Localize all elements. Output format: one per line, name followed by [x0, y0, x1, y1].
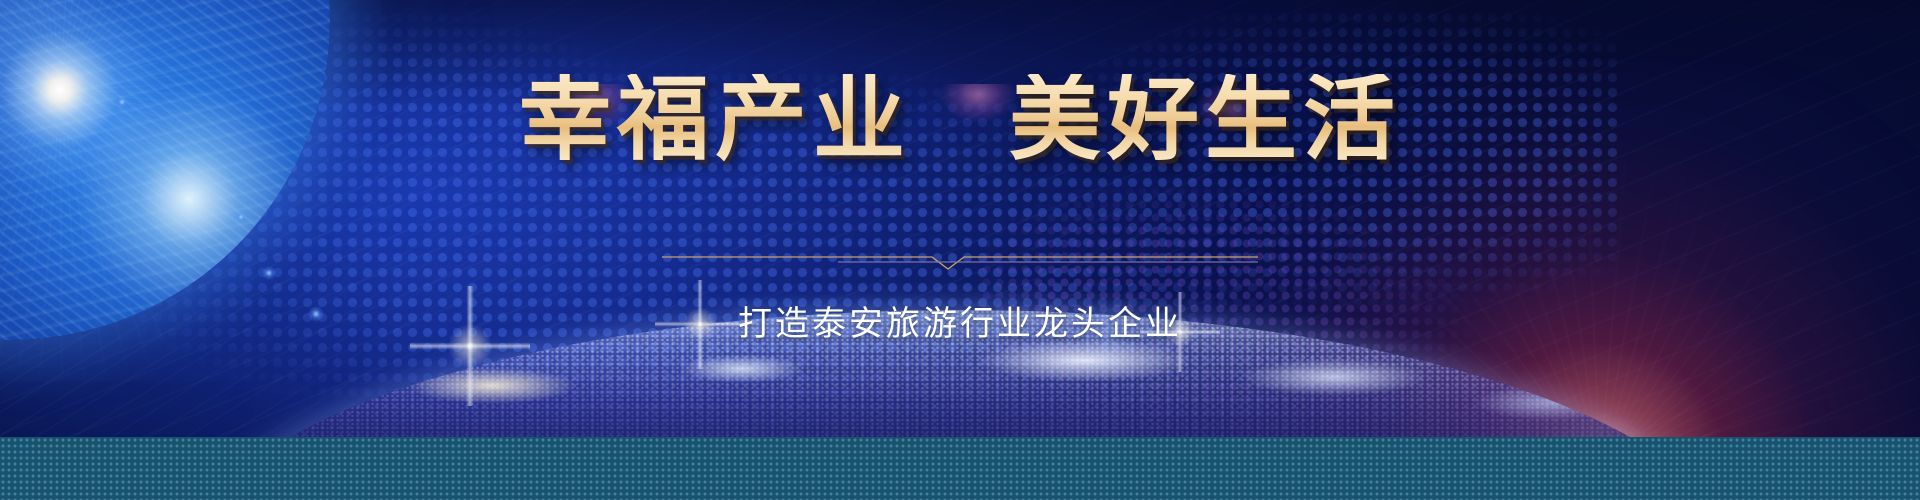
divider-svg [660, 248, 1260, 274]
teal-dotted-bottom-bar [0, 437, 1920, 500]
headline-block: 幸福产业 美好生活 [0, 74, 1920, 166]
page-title: 幸福产业 美好生活 [519, 74, 1401, 166]
divider-gold-line [662, 257, 1258, 269]
gold-divider-with-v-notch [660, 248, 1260, 274]
page-subtitle: 打造泰安旅游行业龙头企业 [0, 296, 1920, 345]
hero-banner: 幸福产业 美好生活 打造泰安旅游行业龙头企业 [0, 0, 1920, 500]
